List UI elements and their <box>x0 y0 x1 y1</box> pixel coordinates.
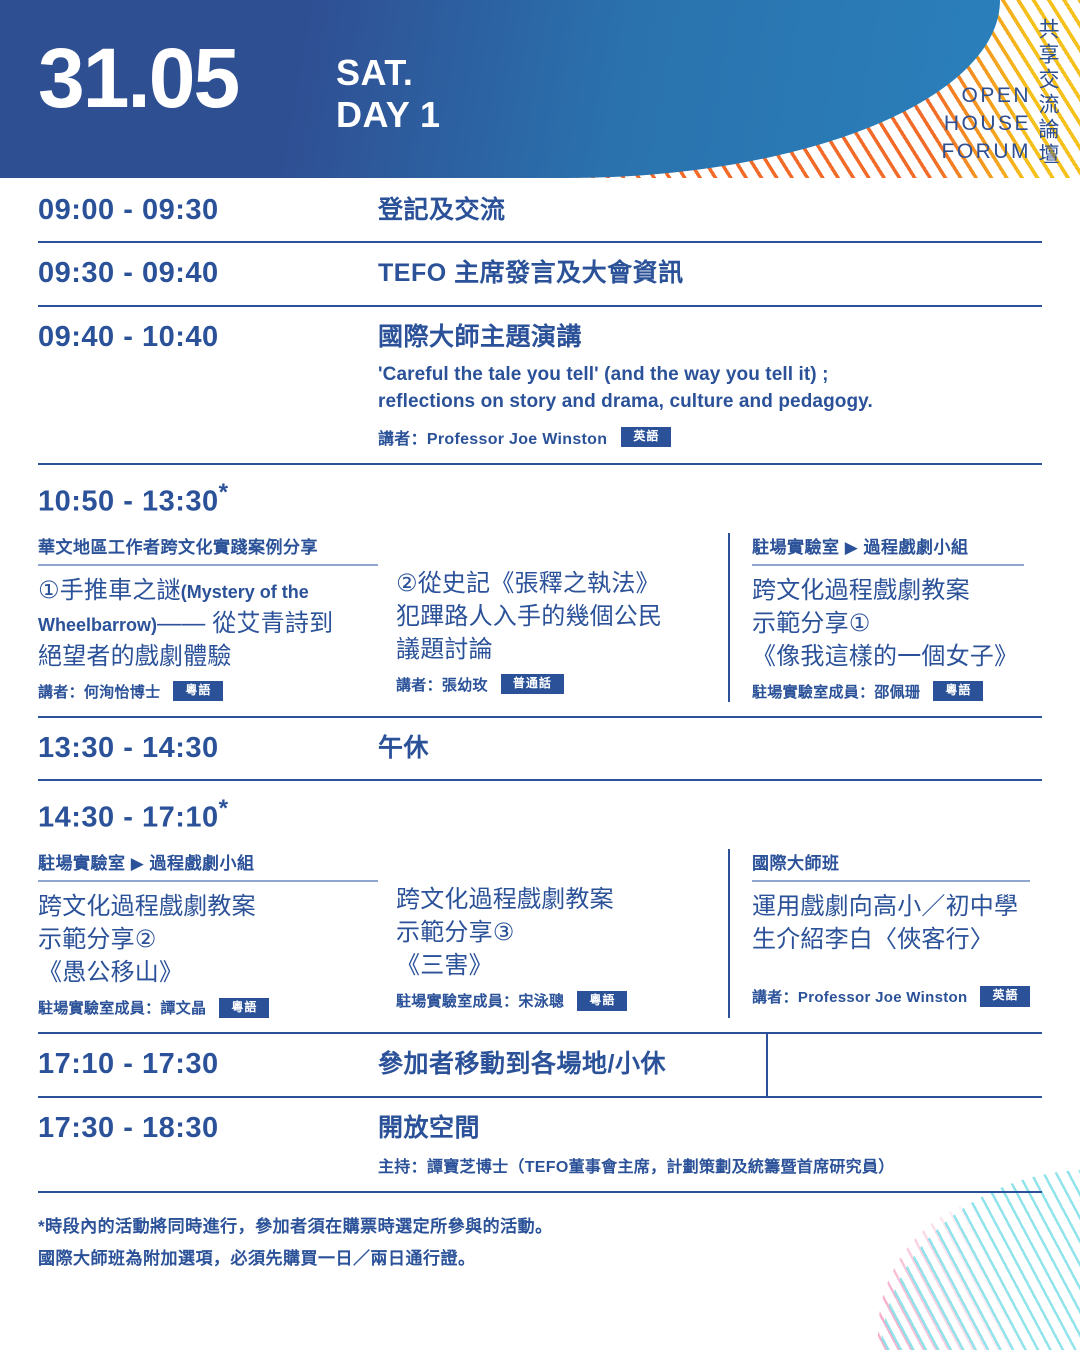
session-column: ②從史記《張釋之執法》 犯蹕路人入手的幾個公民 議題討論 講者：張幼玫 普通話 <box>396 533 728 702</box>
speaker-name: 講者：張幼玫 <box>396 674 488 695</box>
row-time-value: 10:50 - 13:30 <box>38 486 219 518</box>
session-subtitle: 'Careful the tale you tell' (and the way… <box>378 362 1042 416</box>
column-divider-rule <box>766 1034 768 1095</box>
host-name: 主持：譚寶芝博士（TEFO董事會主席，計劃策劃及統籌暨首席研究員） <box>378 1153 895 1177</box>
session-title: 午休 <box>378 733 1042 764</box>
session-speaker: 駐場實驗室成員：譚文晶 粵語 <box>38 997 378 1018</box>
title-line-2: 示範分享③ <box>396 916 710 949</box>
speaker-name: 駐場實驗室成員：宋泳聰 <box>396 990 564 1011</box>
session-host: 主持：譚寶芝博士（TEFO董事會主席，計劃策劃及統籌暨首席研究員） <box>378 1153 1042 1177</box>
logo-line-forum: FORUM <box>942 138 1032 166</box>
session-column: 華文地區工作者跨文化實踐案例分享 ①手推車之謎(Mystery of theWh… <box>38 533 396 702</box>
row-time: 10:50 - 13:30* <box>38 479 1042 519</box>
parallel-session-columns: 華文地區工作者跨文化實踐案例分享 ①手推車之謎(Mystery of theWh… <box>38 533 1042 702</box>
title-line-3: 《像我這樣的一個女子》 <box>752 640 1024 673</box>
title-line-1: 跨文化過程戲劇教案 <box>396 883 710 916</box>
row-body: 登記及交流 <box>378 194 1042 226</box>
subtitle-line-1: 'Careful the tale you tell' (and the way… <box>378 362 1042 389</box>
poster-header: 31.05 SAT. DAY 1 OPEN HOUSE FORUM 共享交流論壇 <box>0 0 1080 178</box>
row-time: 14:30 - 17:10* <box>38 795 1042 835</box>
logo-line-house: HOUSE <box>942 110 1032 138</box>
session-speaker: 講者：何洵怡博士 粵語 <box>38 681 378 702</box>
schedule-poster: 31.05 SAT. DAY 1 OPEN HOUSE FORUM 共享交流論壇… <box>0 0 1080 1350</box>
parallel-session-columns: 駐場實驗室 ▶ 過程戲劇小組 跨文化過程戲劇教案 示範分享② 《愚公移山》 駐場… <box>38 849 1042 1018</box>
title-line-3: 《三害》 <box>396 949 710 982</box>
speaker-name: 駐場實驗室成員：邵佩珊 <box>752 681 920 702</box>
open-house-forum-logo: OPEN HOUSE FORUM 共享交流論壇 <box>942 18 1059 168</box>
event-day-number: DAY 1 <box>336 94 441 136</box>
schedule-row: 17:30 - 18:30 開放空間 主持：譚寶芝博士（TEFO董事會主席，計劃… <box>38 1096 1042 1191</box>
row-time-asterisk: * <box>219 479 229 506</box>
subtitle-line-2: reflections on story and drama, culture … <box>378 389 1042 416</box>
schedule-row-parallel: 14:30 - 17:10* 駐場實驗室 ▶ 過程戲劇小組 跨文化過程戲劇教案 … <box>38 779 1042 1032</box>
session-column: 國際大師班 運用戲劇向高小／初中學 生介紹李白〈俠客行〉 講者：Professo… <box>728 849 1048 1018</box>
title-line-3: 議題討論 <box>396 633 710 666</box>
schedule-row: 09:00 - 09:30 登記及交流 <box>38 178 1042 241</box>
logo-chinese-text: 共享交流論壇 <box>1037 18 1058 168</box>
speaker-name: 講者：何洵怡博士 <box>38 681 160 702</box>
event-weekday: SAT. <box>336 52 441 94</box>
language-badge: 英語 <box>621 427 671 447</box>
title-zh-part-2: —— 從艾青詩到 <box>157 610 333 637</box>
column-heading: 國際大師班 <box>752 849 1030 882</box>
row-time: 17:30 - 18:30 <box>38 1112 378 1145</box>
title-zh-part-1: ①手推車之謎 <box>38 577 181 604</box>
session-column: 駐場實驗室 ▶ 過程戲劇小組 跨文化過程戲劇教案 示範分享① 《像我這樣的一個女… <box>728 533 1042 702</box>
session-title: 跨文化過程戲劇教案 示範分享① 《像我這樣的一個女子》 <box>752 574 1024 673</box>
session-speaker: 講者：張幼玫 普通話 <box>396 674 710 695</box>
session-column: 跨文化過程戲劇教案 示範分享③ 《三害》 駐場實驗室成員：宋泳聰 粵語 <box>396 849 728 1018</box>
logo-line-open: OPEN <box>942 82 1032 110</box>
row-body: 國際大師主題演講 'Careful the tale you tell' (an… <box>378 321 1042 449</box>
speaker-name: 講者：Professor Joe Winston <box>752 986 967 1007</box>
logo-english-text: OPEN HOUSE FORUM <box>942 82 1032 168</box>
title-line-2: 示範分享① <box>752 607 1024 640</box>
row-time-value: 14:30 - 17:10 <box>38 802 219 834</box>
language-badge: 英語 <box>980 986 1030 1006</box>
session-title: ①手推車之謎(Mystery of theWheelbarrow)—— 從艾青詩… <box>38 574 378 673</box>
row-body: 參加者移動到各場地/小休 <box>378 1048 1042 1080</box>
schedule-list: 09:00 - 09:30 登記及交流 09:30 - 09:40 TEFO 主… <box>0 178 1080 1191</box>
row-body: 開放空間 主持：譚寶芝博士（TEFO董事會主席，計劃策劃及統籌暨首席研究員） <box>378 1112 1042 1177</box>
event-date: 31.05 <box>38 36 238 120</box>
row-time: 17:10 - 17:30 <box>38 1048 378 1081</box>
title-line-1: 跨文化過程戲劇教案 <box>38 890 378 923</box>
row-time: 09:40 - 10:40 <box>38 321 378 354</box>
row-body: TEFO 主席發言及大會資訊 <box>378 257 1042 289</box>
footnote-line-2: 國際大師班為附加選項，必須先購買一日／兩日通行證。 <box>38 1243 1042 1275</box>
schedule-row: 09:30 - 09:40 TEFO 主席發言及大會資訊 <box>38 241 1042 304</box>
row-time-asterisk: * <box>219 795 229 822</box>
schedule-row: 13:30 - 14:30 午休 <box>38 716 1042 779</box>
speaker-name: 講者：Professor Joe Winston <box>378 425 607 449</box>
language-badge: 粵語 <box>577 991 627 1011</box>
session-title: 國際大師主題演講 <box>378 322 1042 353</box>
session-speaker: 講者：Professor Joe Winston 英語 <box>752 986 1030 1007</box>
session-title: 跨文化過程戲劇教案 示範分享② 《愚公移山》 <box>38 890 378 989</box>
row-time: 13:30 - 14:30 <box>38 732 378 765</box>
session-speaker: 講者：Professor Joe Winston 英語 <box>378 425 1042 449</box>
session-title: 跨文化過程戲劇教案 示範分享③ 《三害》 <box>396 883 710 982</box>
schedule-row-parallel: 10:50 - 13:30* 華文地區工作者跨文化實踐案例分享 ①手推車之謎(M… <box>38 463 1042 716</box>
title-line-1: ②從史記《張釋之執法》 <box>396 567 710 600</box>
row-time: 09:00 - 09:30 <box>38 194 378 227</box>
title-line-3: 《愚公移山》 <box>38 956 378 989</box>
row-body: 午休 <box>378 732 1042 764</box>
speaker-name: 駐場實驗室成員：譚文晶 <box>38 997 206 1018</box>
session-title: 開放空間 <box>378 1113 1042 1144</box>
schedule-row: 17:10 - 17:30 參加者移動到各場地/小休 <box>38 1032 1042 1095</box>
session-speaker: 駐場實驗室成員：宋泳聰 粵語 <box>396 990 710 1011</box>
language-badge: 普通話 <box>501 674 564 694</box>
column-heading: 駐場實驗室 ▶ 過程戲劇小組 <box>38 849 378 882</box>
footnotes-section: *時段內的活動將同時進行，參加者須在購票時選定所參與的活動。 國際大師班為附加選… <box>38 1191 1042 1276</box>
title-line-1: 跨文化過程戲劇教案 <box>752 574 1024 607</box>
session-title: TEFO 主席發言及大會資訊 <box>378 258 1042 289</box>
title-line-1: 運用戲劇向高小／初中學 <box>752 890 1030 923</box>
title-zh-part-3: 絕望者的戲劇體驗 <box>38 643 232 670</box>
session-title: 運用戲劇向高小／初中學 生介紹李白〈俠客行〉 <box>752 890 1030 956</box>
footnote-line-1: *時段內的活動將同時進行，參加者須在購票時選定所參與的活動。 <box>38 1211 1042 1243</box>
title-line-2: 示範分享② <box>38 923 378 956</box>
column-heading: 駐場實驗室 ▶ 過程戲劇小組 <box>752 533 1024 566</box>
event-day-info: SAT. DAY 1 <box>336 52 441 137</box>
session-title: ②從史記《張釋之執法》 犯蹕路人入手的幾個公民 議題討論 <box>396 567 710 666</box>
language-badge: 粵語 <box>173 681 223 701</box>
row-time: 09:30 - 09:40 <box>38 257 378 290</box>
title-en-part-1: (Mystery of the <box>181 582 309 602</box>
schedule-row: 09:40 - 10:40 國際大師主題演講 'Careful the tale… <box>38 305 1042 463</box>
language-badge: 粵語 <box>933 681 983 701</box>
language-badge: 粵語 <box>219 998 269 1018</box>
title-en-part-2: Wheelbarrow) <box>38 615 157 635</box>
session-column: 駐場實驗室 ▶ 過程戲劇小組 跨文化過程戲劇教案 示範分享② 《愚公移山》 駐場… <box>38 849 396 1018</box>
session-speaker: 駐場實驗室成員：邵佩珊 粵語 <box>752 681 1024 702</box>
title-line-2: 犯蹕路人入手的幾個公民 <box>396 600 710 633</box>
session-title: 參加者移動到各場地/小休 <box>378 1049 1042 1080</box>
session-title: 登記及交流 <box>378 195 1042 226</box>
title-line-2: 生介紹李白〈俠客行〉 <box>752 923 1030 956</box>
column-heading: 華文地區工作者跨文化實踐案例分享 <box>38 533 378 566</box>
